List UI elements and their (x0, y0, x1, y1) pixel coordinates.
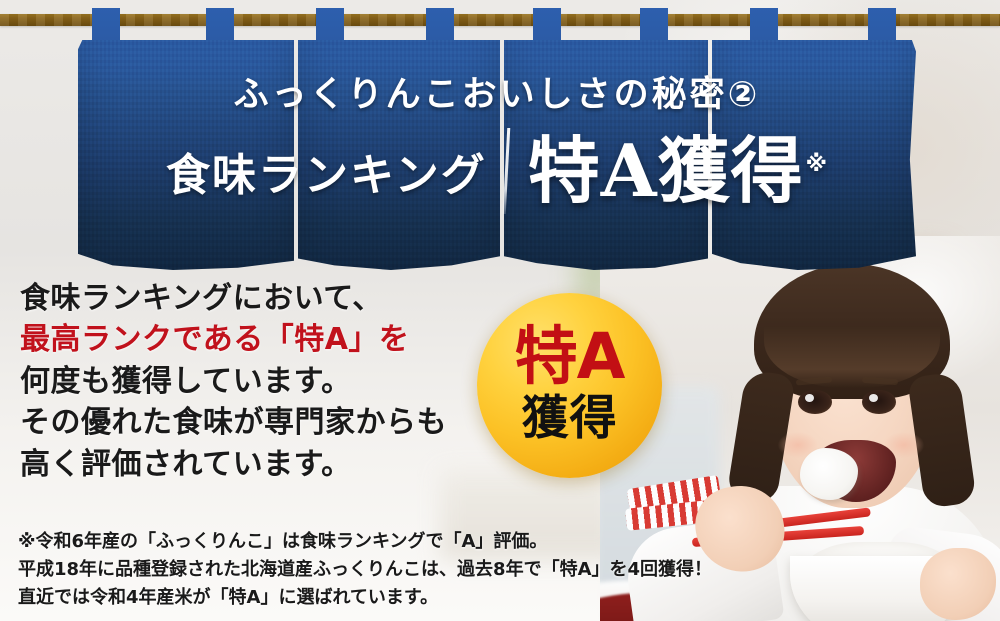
body-copy-line-1: 食味ランキングにおいて、 (20, 278, 500, 319)
noren-panel (298, 40, 500, 270)
body-copy-line-5: 高く評価されています。 (20, 444, 500, 485)
footnote-line-1: ※令和6年産の「ふっくりんこ」は食味ランキングで「A」評価。 (18, 528, 638, 556)
badge-kakutoku-label: 獲得 (522, 395, 618, 442)
toku-a-award-badge: 特A 獲得 (477, 293, 662, 478)
noren-panel (504, 40, 708, 270)
noren-curtain: ふっくりんこおいしさの秘密② 食味ランキング 特A獲得※ (78, 8, 916, 270)
body-copy-line-3: 何度も獲得しています。 (20, 361, 500, 402)
badge-toku-a-label: 特A (515, 325, 625, 388)
noren-panel (712, 40, 916, 270)
body-copy: 食味ランキングにおいて、 最高ランクである「特A」を 何度も獲得しています。 そ… (20, 278, 500, 485)
noren-panels (78, 40, 916, 270)
noren-panel (78, 40, 294, 270)
child-eye-right (862, 390, 896, 414)
footnote-block: ※令和6年産の「ふっくりんこ」は食味ランキングで「A」評価。 平成18年に品種登… (18, 528, 638, 612)
body-copy-line-2: 最高ランクである「特A」を (20, 319, 500, 360)
footnote-line-3: 直近では令和4年産米が「特A」に選ばれています。 (18, 584, 638, 612)
promo-banner: ふっくりんこおいしさの秘密② 食味ランキング 特A獲得※ 食味ランキングにおいて… (0, 0, 1000, 621)
child-eye-left (798, 390, 832, 414)
body-copy-line-4: その優れた食味が専門家からも (20, 402, 500, 443)
footnote-line-2: 平成18年に品種登録された北海道産ふっくりんこは、過去8年で「特A」を4回獲得！ (18, 556, 638, 584)
